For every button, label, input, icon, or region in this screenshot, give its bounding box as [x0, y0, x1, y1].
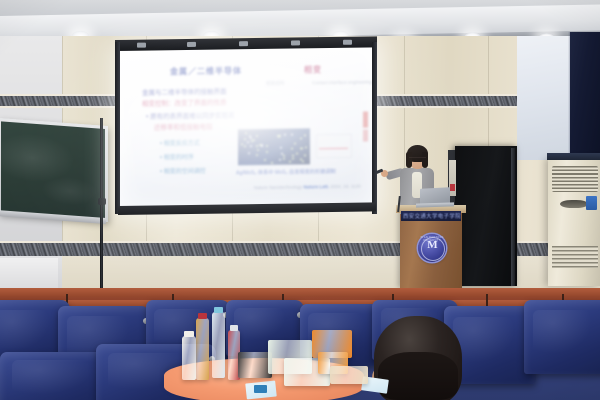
- micrograph-feature: [279, 134, 281, 136]
- micrograph-feature: [244, 145, 246, 147]
- side-cabinet: [0, 258, 58, 288]
- micrograph-feature: [241, 143, 243, 145]
- micrograph-feature: [292, 154, 294, 156]
- slide-figure-plot: [316, 134, 352, 159]
- micrograph-feature: [291, 147, 293, 149]
- emblem-monogram: M: [418, 240, 446, 251]
- micrograph-feature: [296, 152, 298, 154]
- micrograph-feature: [256, 135, 258, 137]
- snack-tray[interactable]: [238, 352, 272, 378]
- micrograph-feature: [291, 133, 293, 135]
- micrograph-feature: [256, 145, 258, 147]
- micrograph-feature: [250, 137, 252, 139]
- slide-line-1: 金属与二维半导体的接触界面: [142, 86, 227, 97]
- rail-clip-3: [239, 41, 248, 46]
- slide-title-left: 金属／二维半导体: [146, 65, 266, 78]
- slide-figure-micrograph: [238, 128, 310, 165]
- chalkboard-assembly: [0, 126, 108, 222]
- chalkboard-support-post: [100, 118, 103, 292]
- micrograph-feature: [289, 160, 291, 162]
- slide-line-4: 迁移率和低接触电阻: [154, 121, 213, 132]
- rack-indicator-light: [450, 184, 455, 191]
- slide-marker-2: [363, 130, 368, 142]
- screen-frame-right: [372, 42, 377, 214]
- slide-header-left: 相变结构: [266, 81, 284, 87]
- micrograph-feature: [294, 142, 296, 144]
- micrograph-feature: [284, 134, 286, 136]
- slide-bullet-2: • 相变的时序: [160, 152, 194, 161]
- micrograph-feature: [279, 159, 281, 161]
- projection-screen[interactable]: 金属／二维半导体 相变 相变结构 Contact interface engin…: [120, 46, 374, 210]
- pastry-pack[interactable]: [330, 366, 368, 384]
- desk-surface-back: [0, 288, 600, 297]
- slide-header-right: Contact interface engineering: [312, 79, 372, 85]
- slide-marker-1: [363, 112, 368, 128]
- juice-bottle-2-cap: [230, 325, 238, 331]
- juice-bottle[interactable]: [196, 318, 209, 380]
- micrograph-feature: [251, 140, 253, 142]
- micrograph-feature: [244, 139, 246, 141]
- podium-nameplate-text: 西安交通大学电子学院: [403, 212, 461, 220]
- micrograph-feature: [300, 148, 302, 150]
- av-equipment-rack[interactable]: [455, 146, 517, 286]
- micrograph-feature: [283, 155, 285, 157]
- micrograph-feature: [304, 134, 306, 136]
- micrograph-feature: [292, 158, 294, 160]
- paper-cup[interactable]: [182, 336, 196, 380]
- slide-bullet-1: • 相变反应方式: [160, 138, 200, 148]
- slide-citation: Nature Nanotechnology Nature Lett. 2024,…: [254, 184, 361, 190]
- micrograph-feature: [250, 145, 252, 147]
- micrograph-feature: [283, 158, 285, 160]
- window-curtain: [570, 32, 600, 160]
- slide-bullet-3: • 相变的空间调控: [160, 166, 206, 176]
- rail-clip-5: [343, 40, 352, 45]
- auditorium-seat-8[interactable]: [524, 300, 600, 374]
- juice-bottle-cap: [198, 313, 207, 319]
- micrograph-feature: [266, 151, 268, 153]
- ac-upper-vent-grille: [552, 166, 598, 192]
- water-bottle-cap: [214, 307, 223, 313]
- rail-clip-2: [187, 42, 196, 47]
- slide-title-right: 相变: [278, 64, 348, 76]
- ac-top-cover: [547, 153, 600, 160]
- plot-trace: [319, 148, 348, 149]
- ac-air-outlet: [560, 200, 588, 208]
- micrograph-feature: [300, 138, 302, 140]
- slide-line-3: • 原有的表界面难以同步实现高: [146, 109, 235, 120]
- presentation-slide: 金属／二维半导体 相变 相变结构 Contact interface engin…: [126, 52, 368, 205]
- rack-door-edge: [511, 148, 515, 286]
- ac-lower-vent-grille: [552, 246, 598, 268]
- water-bottle[interactable]: [212, 312, 225, 378]
- rail-clip-4: [291, 40, 300, 45]
- napkin-print: [254, 385, 267, 393]
- audience-nape: [378, 352, 458, 400]
- micrograph-feature: [247, 141, 249, 143]
- lecture-hall-photo: 金属／二维半导体 相变 相变结构 Contact interface engin…: [0, 0, 600, 400]
- micrograph-feature: [266, 145, 268, 147]
- micrograph-feature: [253, 139, 255, 141]
- micrograph-feature: [257, 149, 259, 151]
- citation-bold: Nature Lett.: [304, 184, 330, 189]
- ac-badge: [586, 196, 597, 210]
- screen-frame-left: [115, 42, 120, 214]
- citation-volume: 2024, 19, 1120: [330, 184, 360, 189]
- citation-journal: Nature Nanotechnology: [254, 184, 302, 190]
- micrograph-feature: [245, 132, 247, 134]
- micrograph-feature: [302, 161, 304, 163]
- micrograph-feature: [264, 159, 266, 161]
- micrograph-feature: [256, 154, 258, 156]
- slide-figure-caption: Ag/MoS₂ 体系中 MoS₂ 自发相变的形貌调制: [236, 168, 336, 176]
- podium-nameplate: 西安交通大学电子学院: [401, 211, 461, 221]
- window-glass: [517, 36, 573, 160]
- micrograph-feature: [261, 145, 263, 147]
- glasses-icon: [409, 157, 426, 162]
- micrograph-feature: [304, 154, 306, 156]
- micrograph-feature: [248, 152, 250, 154]
- paper-cup-cap: [184, 331, 194, 337]
- rail-clip-1: [137, 43, 146, 48]
- micrograph-feature: [305, 147, 307, 149]
- micrograph-feature: [280, 146, 282, 148]
- micrograph-feature: [271, 161, 273, 163]
- slide-line-2: 相变控制：改变了界面的性质: [142, 97, 227, 108]
- university-emblem: XI'AN JIAOTONG UNIVERSITY M: [418, 234, 446, 262]
- chalkboard-adjust-knob[interactable]: [98, 198, 106, 205]
- chalkboard[interactable]: [1, 121, 105, 219]
